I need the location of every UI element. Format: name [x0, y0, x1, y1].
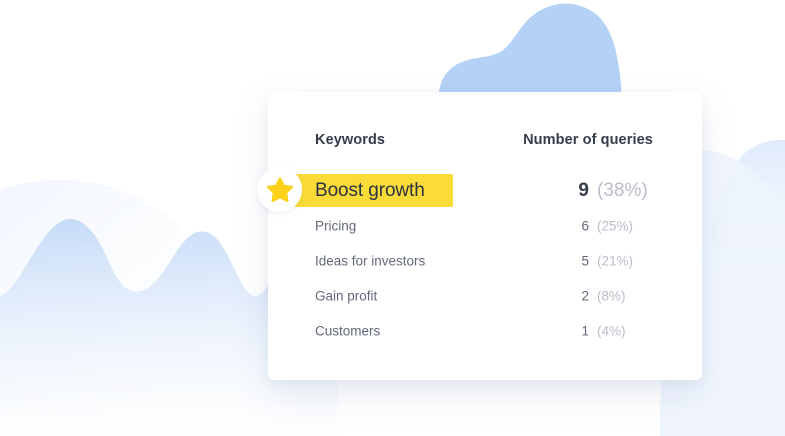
keyword-label: Gain profit	[315, 288, 377, 303]
keyword-label: Ideas for investors	[315, 253, 425, 268]
screenshot-root: Keywords Number of queries Boost growth …	[0, 0, 785, 436]
table-row[interactable]: Boost growth 9 (38%)	[268, 173, 702, 208]
top-blob-shape	[438, 4, 621, 103]
keyword-label: Boost growth	[315, 180, 425, 202]
table-row[interactable]: Gain profit 2 (8%)	[268, 278, 702, 313]
left-glow-blob	[0, 180, 210, 420]
query-count: 9	[511, 180, 589, 202]
table-row[interactable]: Customers 1 (4%)	[268, 313, 702, 348]
query-percent: (8%)	[597, 288, 626, 303]
featured-star-badge[interactable]	[257, 167, 302, 212]
table-row[interactable]: Pricing 6 (25%)	[268, 208, 702, 243]
query-percent: (38%)	[597, 180, 648, 202]
keywords-list: Boost growth 9 (38%) Pricing 6 (25%) Ide…	[268, 173, 702, 348]
column-header-number-of-queries: Number of queries	[521, 132, 655, 148]
query-percent: (21%)	[597, 253, 633, 268]
query-count: 1	[519, 323, 589, 338]
query-percent: (4%)	[597, 323, 626, 338]
query-percent: (25%)	[597, 218, 633, 233]
query-count: 5	[519, 253, 589, 268]
query-count: 2	[519, 288, 589, 303]
keywords-card: Keywords Number of queries Boost growth …	[268, 92, 702, 380]
query-count: 6	[519, 218, 589, 233]
table-header: Keywords Number of queries	[268, 92, 702, 122]
column-header-keywords: Keywords	[315, 132, 385, 148]
star-icon	[266, 176, 294, 203]
keyword-label: Pricing	[315, 218, 356, 233]
keyword-label: Customers	[315, 323, 380, 338]
table-row[interactable]: Ideas for investors 5 (21%)	[268, 243, 702, 278]
